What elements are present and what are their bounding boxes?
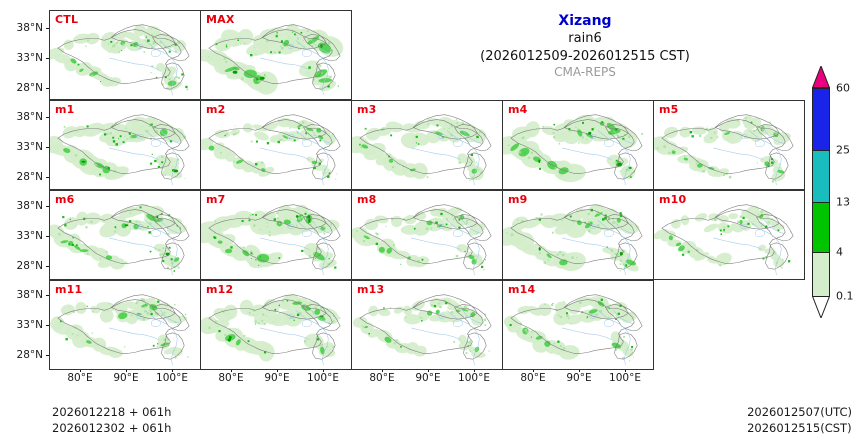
y-tick-label: 28°N	[3, 349, 43, 361]
panel-label: m10	[659, 193, 686, 206]
x-tick-label: 90°E	[406, 372, 450, 384]
init-time-footer: 2026012218 + 061h 2026012302 + 061h	[52, 404, 171, 437]
init-time-line-2: 2026012302 + 061h	[52, 420, 171, 436]
valid-time-footer: 2026012507(UTC) 2026012515(CST)	[747, 404, 852, 437]
y-tick-label: 33°N	[3, 52, 43, 64]
colorbar-segment	[813, 89, 829, 151]
panel-label: m14	[508, 283, 535, 296]
valid-time-cst: 2026012515(CST)	[747, 420, 852, 436]
panel-label: m1	[55, 103, 75, 116]
panel-placeholder	[653, 280, 805, 370]
panel-grid: CTL MAX	[50, 11, 805, 371]
map-panel-m3[interactable]: m3	[351, 100, 503, 190]
y-tick-label: 38°N	[3, 22, 43, 34]
colorbar-gradient	[812, 88, 830, 296]
colorbar-tick-label: 4	[836, 246, 843, 259]
panel-label: m5	[659, 103, 679, 116]
colorbar-tick-label: 13	[836, 196, 850, 209]
x-tick-label: 100°E	[452, 372, 496, 384]
map-panel-ctl[interactable]: CTL	[49, 10, 201, 100]
panel-label: m6	[55, 193, 75, 206]
panel-label: m3	[357, 103, 377, 116]
panel-label: MAX	[206, 13, 235, 26]
panel-row: CTL MAX	[50, 11, 805, 101]
colorbar-tick-label: 60	[836, 82, 850, 95]
y-tick-label: 33°N	[3, 319, 43, 331]
x-tick-label: 100°E	[150, 372, 194, 384]
y-tick-label: 38°N	[3, 289, 43, 301]
map-panel-m10[interactable]: m10	[653, 190, 805, 280]
x-tick-label: 100°E	[603, 372, 647, 384]
map-panel-m14[interactable]: m14	[502, 280, 654, 370]
panel-row: m1 m2	[50, 101, 805, 191]
y-tick-label: 28°N	[3, 260, 43, 272]
panel-label: m11	[55, 283, 82, 296]
colorbar-segment	[813, 151, 829, 203]
init-time-line-1: 2026012218 + 061h	[52, 404, 171, 420]
colorbar-segment	[813, 203, 829, 253]
y-tick-label: 28°N	[3, 171, 43, 183]
map-panel-m1[interactable]: m1	[49, 100, 201, 190]
x-tick-label: 90°E	[255, 372, 299, 384]
panel-label: m7	[206, 193, 226, 206]
panel-label: m13	[357, 283, 384, 296]
y-tick-label: 38°N	[3, 111, 43, 123]
map-panel-m2[interactable]: m2	[200, 100, 352, 190]
x-tick-label: 80°E	[209, 372, 253, 384]
panel-label: m2	[206, 103, 226, 116]
colorbar-over-arrow-icon	[812, 66, 830, 88]
panel-label: m12	[206, 283, 233, 296]
map-panel-m5[interactable]: m5	[653, 100, 805, 190]
panel-row: m11 m12	[50, 281, 805, 371]
x-tick-label: 80°E	[58, 372, 102, 384]
valid-time-utc: 2026012507(UTC)	[747, 404, 852, 420]
x-tick-label: 80°E	[360, 372, 404, 384]
map-panel-m11[interactable]: m11	[49, 280, 201, 370]
x-tick-label: 100°E	[301, 372, 345, 384]
y-tick-label: 28°N	[3, 82, 43, 94]
panel-label: m8	[357, 193, 377, 206]
map-panel-max[interactable]: MAX	[200, 10, 352, 100]
y-tick-label: 33°N	[3, 230, 43, 242]
y-tick-label: 38°N	[3, 200, 43, 212]
colorbar-tick-label: 25	[836, 144, 850, 157]
map-panel-m12[interactable]: m12	[200, 280, 352, 370]
map-panel-m9[interactable]: m9	[502, 190, 654, 280]
map-panel-m13[interactable]: m13	[351, 280, 503, 370]
colorbar-under-arrow-icon	[812, 296, 830, 318]
map-panel-m8[interactable]: m8	[351, 190, 503, 280]
colorbar-segment	[813, 253, 829, 297]
x-tick-label: 90°E	[104, 372, 148, 384]
x-tick-label: 80°E	[511, 372, 555, 384]
map-panel-m7[interactable]: m7	[200, 190, 352, 280]
map-panel-m6[interactable]: m6	[49, 190, 201, 280]
panel-label: m9	[508, 193, 528, 206]
colorbar-tick-label: 0.1	[836, 290, 854, 303]
y-tick-label: 33°N	[3, 141, 43, 153]
colorbar: 60251340.1	[812, 66, 830, 318]
panel-label: CTL	[55, 13, 78, 26]
map-panel-m4[interactable]: m4	[502, 100, 654, 190]
x-tick-label: 90°E	[557, 372, 601, 384]
panel-row: m6 m7	[50, 191, 805, 281]
panel-label: m4	[508, 103, 528, 116]
